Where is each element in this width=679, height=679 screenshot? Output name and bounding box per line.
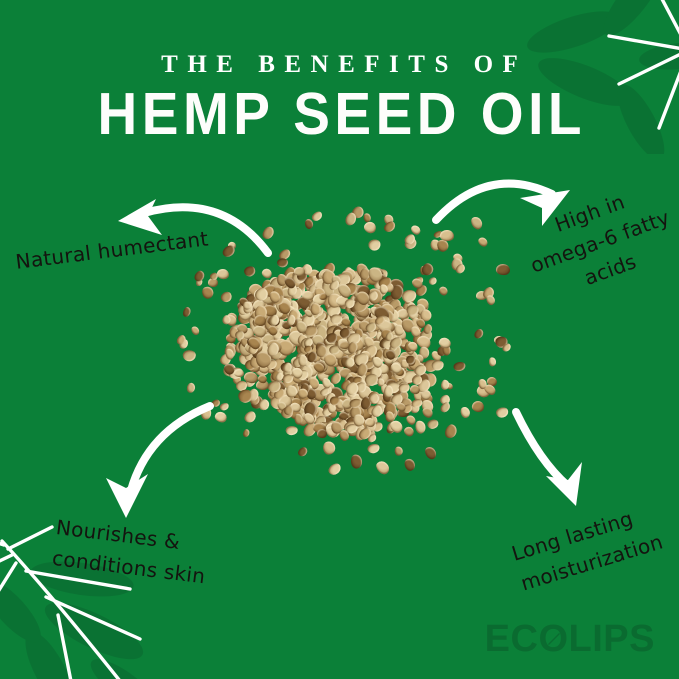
leaf-icon bbox=[545, 631, 562, 648]
hemp-seed bbox=[401, 289, 417, 303]
hemp-seed bbox=[488, 357, 496, 366]
hemp-seed bbox=[369, 239, 382, 251]
brand-letter-o: O bbox=[538, 620, 568, 658]
hemp-seed bbox=[398, 383, 410, 393]
hemp-seed bbox=[394, 446, 403, 456]
hemp-seed bbox=[193, 269, 206, 283]
hemp-seed bbox=[216, 268, 230, 280]
hemp-seed bbox=[403, 457, 416, 472]
hemp-seed bbox=[460, 406, 472, 419]
hemp-seed bbox=[485, 294, 496, 306]
hemp-seed bbox=[471, 400, 485, 413]
hemp-seed bbox=[402, 425, 416, 438]
hemp-seed bbox=[440, 229, 455, 241]
hemp-seed bbox=[242, 266, 256, 278]
hemp-seed bbox=[477, 236, 490, 249]
hemp-seed bbox=[219, 401, 230, 411]
hemp-seed bbox=[311, 210, 324, 223]
hemp-seed bbox=[287, 386, 298, 398]
hemp-seed bbox=[323, 441, 336, 455]
hemp-seed bbox=[469, 215, 485, 232]
benefit-label-long-lasting-moisturization: Long lasting moisturization bbox=[508, 497, 667, 599]
hemp-seed bbox=[297, 446, 310, 458]
hemp-seed bbox=[427, 276, 437, 286]
hemp-seed bbox=[414, 420, 426, 434]
benefit-label-nourishes-conditions-skin: Nourishes & conditions skin bbox=[50, 512, 210, 592]
heading-block: THE BENEFITS OF HEMP SEED OIL bbox=[0, 52, 679, 141]
hemp-seed bbox=[213, 410, 227, 423]
hemp-seed bbox=[443, 423, 458, 440]
brand-name-part-1: EC bbox=[485, 620, 539, 658]
hemp-seed bbox=[423, 445, 439, 462]
hemp-seed bbox=[367, 443, 380, 454]
hemp-seed bbox=[427, 418, 439, 429]
curved-arrow-down-right-icon bbox=[498, 406, 634, 512]
hemp-seed bbox=[473, 328, 485, 341]
hemp-seed bbox=[316, 428, 327, 438]
hemp-seed bbox=[186, 382, 196, 394]
hemp-seed bbox=[261, 225, 276, 241]
hemp-seed bbox=[362, 220, 378, 236]
hemp-seed bbox=[326, 461, 343, 477]
page-title: HEMP SEED OIL bbox=[0, 83, 679, 145]
hemp-seed bbox=[438, 284, 450, 296]
hemp-seed bbox=[241, 428, 250, 438]
hemp-seed bbox=[495, 407, 509, 419]
hemp-seeds-image bbox=[178, 212, 508, 480]
hemp-seed bbox=[201, 406, 211, 419]
hemp-seed bbox=[219, 290, 233, 304]
eyebrow-text: THE BENEFITS OF bbox=[0, 52, 679, 77]
hemp-seed bbox=[243, 409, 259, 425]
hemp-seed bbox=[377, 378, 384, 386]
hemp-seed bbox=[182, 306, 192, 317]
hemp-seed bbox=[351, 454, 363, 469]
hemp-seed bbox=[242, 301, 251, 310]
hemp-seed bbox=[286, 426, 298, 435]
brand-name: EC O LIPS bbox=[485, 620, 655, 658]
hemp-seed bbox=[293, 266, 305, 276]
hemp-seed bbox=[298, 354, 307, 366]
brand-logo: EC O LIPS bbox=[485, 619, 655, 659]
hemp-seed bbox=[496, 263, 510, 275]
hemp-seed bbox=[277, 258, 288, 268]
hemp-seed bbox=[374, 459, 391, 476]
hemp-seed bbox=[191, 325, 201, 336]
infographic-canvas: THE BENEFITS OF HEMP SEED OIL Natural hu… bbox=[0, 0, 679, 679]
hemp-seed bbox=[432, 360, 445, 372]
hemp-seed bbox=[183, 350, 196, 361]
hemp-seed bbox=[453, 361, 466, 372]
brand-name-part-2: LIPS bbox=[569, 620, 655, 658]
benefit-label-omega-6: High in omega-6 fatty acids bbox=[516, 174, 679, 309]
